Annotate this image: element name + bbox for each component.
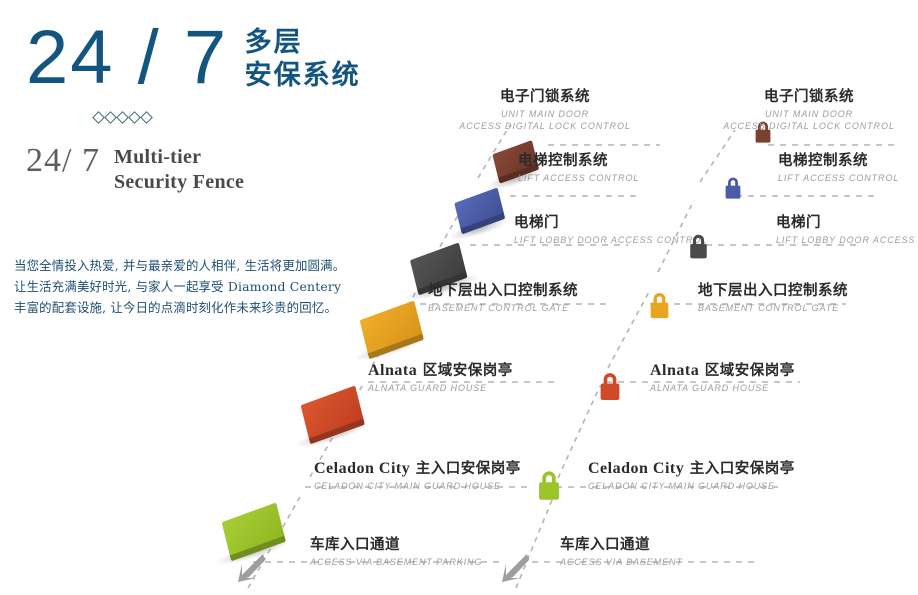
- label-cn: 地下层出入口控制系统: [698, 282, 848, 300]
- label-cn-text: 主入口安保岗亭: [416, 461, 521, 477]
- label-en-1: CELADON CITY MAIN GUARD HOUSE: [314, 480, 521, 492]
- label-right-unit-main-door: 电子门锁系统 UNIT MAIN DOOR ACCESS DIGITAL LOC…: [700, 88, 918, 132]
- label-cn: 电子门锁系统: [700, 88, 918, 106]
- label-cn-text: 区域安保岗亭: [705, 363, 795, 379]
- label-cn: 电梯门: [776, 214, 918, 232]
- right-horizontal-ticks: [520, 145, 898, 562]
- left-diagonal-spine: [248, 125, 510, 588]
- label-cn: 电梯控制系统: [518, 152, 639, 170]
- label-cn: Celadon City 主入口安保岗亭: [588, 460, 795, 478]
- label-cn: Alnata 区域安保岗亭: [650, 362, 795, 380]
- label-en-2: ACCESS DIGITAL LOCK CONTROL: [700, 120, 918, 132]
- label-en-1: BASEMENT CONTROL GATE: [698, 302, 848, 314]
- label-right-alnata-guard: Alnata 区域安保岗亭 ALNATA GUARD HOUSE: [650, 362, 795, 394]
- label-cn-text: 主入口安保岗亭: [690, 461, 795, 477]
- label-right-garage-access: 车库入口通道 ACCESS VIA BASEMENT: [560, 536, 683, 568]
- label-left-unit-main-door: 电子门锁系统 UNIT MAIN DOOR ACCESS DIGITAL LOC…: [430, 88, 660, 132]
- arrow-up-left-icon-right-column: [500, 552, 530, 584]
- label-cn: Celadon City 主入口安保岗亭: [314, 460, 521, 478]
- label-en-1: BASEMENT CONTROL GATE: [428, 302, 578, 314]
- label-en-2: ACCESS DIGITAL LOCK CONTROL: [430, 120, 660, 132]
- padlock-icon-lift-lobby: [686, 232, 711, 261]
- padlock-icon-celadon-guard: [534, 468, 564, 503]
- label-left-lift-lobby: 电梯门 LIFT LOBBY DOOR ACCESS CONTROL: [514, 214, 707, 246]
- label-right-lift-lobby: 电梯门 LIFT LOBBY DOOR ACCESS CONTROL: [776, 214, 918, 246]
- label-right-celadon-guard: Celadon City 主入口安保岗亭 CELADON CITY MAIN G…: [588, 460, 795, 492]
- label-en-1: UNIT MAIN DOOR: [430, 108, 660, 120]
- label-en-1: ALNATA GUARD HOUSE: [650, 382, 795, 394]
- label-en-1: LIFT ACCESS CONTROL: [518, 172, 639, 184]
- label-left-garage-access: 车库入口通道 ACCESS VIA BASEMENT PARKING: [310, 536, 482, 568]
- label-left-celadon-guard: Celadon City 主入口安保岗亭 CELADON CITY MAIN G…: [314, 460, 521, 492]
- infographic-page: 24 / 7 多层 安保系统 24/ 7 Multi-tier Security…: [0, 0, 918, 595]
- label-left-basement-gate: 地下层出入口控制系统 BASEMENT CONTROL GATE: [428, 282, 578, 314]
- label-left-alnata-guard: Alnata 区域安保岗亭 ALNATA GUARD HOUSE: [368, 362, 513, 394]
- label-en-1: UNIT MAIN DOOR: [700, 108, 918, 120]
- padlock-icon-lift-access: [722, 175, 744, 201]
- label-cn-latin: Alnata: [650, 362, 699, 379]
- label-right-lift-access: 电梯控制系统 LIFT ACCESS CONTROL: [778, 152, 899, 184]
- label-en-1: ACCESS VIA BASEMENT PARKING: [310, 556, 482, 568]
- label-cn-latin: Celadon City: [588, 460, 684, 477]
- label-cn-latin: Celadon City: [314, 460, 410, 477]
- label-cn-latin: Alnata: [368, 362, 417, 379]
- padlock-icon-basement-gate: [646, 290, 673, 321]
- label-left-lift-access: 电梯控制系统 LIFT ACCESS CONTROL: [518, 152, 639, 184]
- label-cn: 电梯门: [514, 214, 707, 232]
- label-en-1: LIFT LOBBY DOOR ACCESS CONTROL: [776, 234, 918, 246]
- label-cn: Alnata 区域安保岗亭: [368, 362, 513, 380]
- label-cn: 电梯控制系统: [778, 152, 899, 170]
- label-right-basement-gate: 地下层出入口控制系统 BASEMENT CONTROL GATE: [698, 282, 848, 314]
- label-cn: 车库入口通道: [310, 536, 482, 554]
- label-cn: 车库入口通道: [560, 536, 683, 554]
- label-cn: 电子门锁系统: [430, 88, 660, 106]
- label-en-1: ACCESS VIA BASEMENT: [560, 556, 683, 568]
- label-en-1: LIFT ACCESS CONTROL: [778, 172, 899, 184]
- right-diagonal-spine: [516, 130, 735, 588]
- label-en-1: LIFT LOBBY DOOR ACCESS CONTROL: [514, 234, 707, 246]
- label-en-1: ALNATA GUARD HOUSE: [368, 382, 513, 394]
- label-cn: 地下层出入口控制系统: [428, 282, 578, 300]
- label-en-1: CELADON CITY MAIN GUARD HOUSE: [588, 480, 795, 492]
- arrow-up-left-icon: [236, 552, 266, 584]
- label-cn-text: 区域安保岗亭: [423, 363, 513, 379]
- padlock-icon-alnata-guard: [596, 370, 624, 403]
- security-tier-diagram: 电子门锁系统 UNIT MAIN DOOR ACCESS DIGITAL LOC…: [0, 0, 918, 595]
